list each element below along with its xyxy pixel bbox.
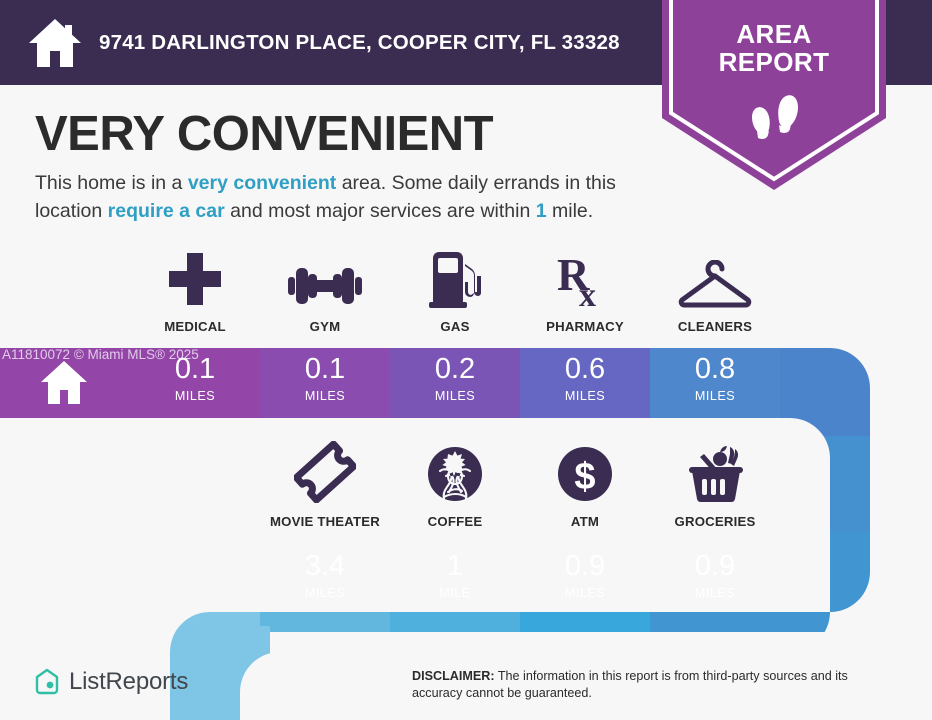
- summary-highlight-1: very convenient: [188, 172, 336, 194]
- distance-cell: 0.1 MILES: [130, 355, 260, 403]
- distance-unit: MILE: [439, 586, 470, 600]
- grocery-basket-icon: [684, 445, 746, 503]
- distance-value: 0.8: [695, 355, 735, 384]
- distance-row-primary: 0.1 MILES 0.1 MILES 0.2 MILES 0.6 MILES …: [130, 355, 780, 403]
- movie-ticket-icon: [294, 445, 356, 503]
- distance-cell: 0.6 MILES: [520, 355, 650, 403]
- category-label: MEDICAL: [164, 319, 225, 334]
- category-label: PHARMACY: [546, 319, 624, 334]
- home-icon: [27, 17, 83, 69]
- medical-cross-icon: [166, 250, 224, 308]
- category-groceries: GROCERIES: [650, 445, 780, 529]
- distance-unit: MILES: [435, 389, 475, 403]
- summary-part-1: This home is in a: [35, 172, 188, 194]
- category-label: GAS: [440, 319, 469, 334]
- category-label: MOVIE THEATER: [270, 514, 380, 529]
- distance-cell: 0.9 MILES: [520, 552, 650, 600]
- distance-cell: 0.2 MILES: [390, 355, 520, 403]
- listreports-logo: ListReports: [33, 667, 188, 697]
- distance-value: 0.6: [565, 355, 605, 384]
- category-medical: MEDICAL: [130, 250, 260, 334]
- summary-part-3: and most major services are within: [225, 200, 536, 222]
- category-label: GROCERIES: [675, 514, 756, 529]
- category-gym: GYM: [260, 250, 390, 334]
- starbucks-icon: [426, 445, 484, 503]
- area-report-badge: AREA REPORT: [662, 0, 886, 190]
- summary-highlight-2: require a car: [108, 200, 225, 222]
- distance-value: 0.1: [175, 355, 215, 384]
- category-gas: GAS: [390, 250, 520, 334]
- category-cleaners: CLEANERS: [650, 250, 780, 334]
- distance-unit: MILES: [565, 389, 605, 403]
- distance-unit: MILES: [175, 389, 215, 403]
- distance-unit: MILES: [565, 586, 605, 600]
- distance-row-secondary: 3.4 MILES 1 MILE 0.9 MILES 0.9 MILES: [260, 552, 780, 600]
- gas-pump-icon: [429, 250, 481, 308]
- distance-cell: 0.1 MILES: [260, 355, 390, 403]
- distance-unit: MILES: [695, 586, 735, 600]
- icon-row-primary: MEDICAL GYM: [130, 250, 780, 334]
- category-atm: $ ATM: [520, 445, 650, 529]
- distance-value: 0.9: [695, 552, 735, 581]
- property-address: 9741 DARLINGTON PLACE, COOPER CITY, FL 3…: [99, 31, 620, 55]
- area-report-page: 9741 DARLINGTON PLACE, COOPER CITY, FL 3…: [0, 0, 932, 720]
- home-marker-icon: [40, 360, 88, 405]
- summary-part-4: mile.: [547, 200, 594, 222]
- distance-cell: 0.9 MILES: [650, 552, 780, 600]
- summary-text: This home is in a very convenient area. …: [35, 170, 667, 225]
- disclaimer: DISCLAIMER: The information in this repo…: [412, 668, 894, 702]
- dollar-circle-icon: $: [556, 445, 614, 503]
- icon-row-secondary: MOVIE THEATER: [260, 445, 780, 529]
- distance-value: 1: [447, 552, 463, 581]
- distance-cell: 1 MILE: [390, 552, 520, 600]
- distance-cell: 3.4 MILES: [260, 552, 390, 600]
- summary-highlight-3: 1: [536, 200, 547, 222]
- distance-value: 0.9: [565, 552, 605, 581]
- hanger-icon: [676, 250, 754, 308]
- disclaimer-label: DISCLAIMER:: [412, 669, 495, 683]
- distance-value: 0.1: [305, 355, 345, 384]
- dumbbell-icon: [288, 250, 362, 308]
- distance-value: 3.4: [305, 552, 345, 581]
- distance-unit: MILES: [695, 389, 735, 403]
- distance-unit: MILES: [305, 586, 345, 600]
- category-label: CLEANERS: [678, 319, 752, 334]
- svg-text:$: $: [574, 456, 595, 498]
- page-title: VERY CONVENIENT: [35, 110, 493, 159]
- distance-value: 0.2: [435, 355, 475, 384]
- rx-icon: R x: [557, 250, 613, 308]
- category-pharmacy: R x PHARMACY: [520, 250, 650, 334]
- listreports-logo-text: ListReports: [69, 668, 188, 696]
- svg-text:x: x: [579, 277, 596, 308]
- listreports-pin-icon: [33, 667, 61, 697]
- distance-unit: MILES: [305, 389, 345, 403]
- category-label: GYM: [310, 319, 341, 334]
- category-label: ATM: [571, 514, 599, 529]
- distance-cell: 0.8 MILES: [650, 355, 780, 403]
- category-label: COFFEE: [428, 514, 483, 529]
- category-movie-theater: MOVIE THEATER: [260, 445, 390, 529]
- category-coffee: COFFEE: [390, 445, 520, 529]
